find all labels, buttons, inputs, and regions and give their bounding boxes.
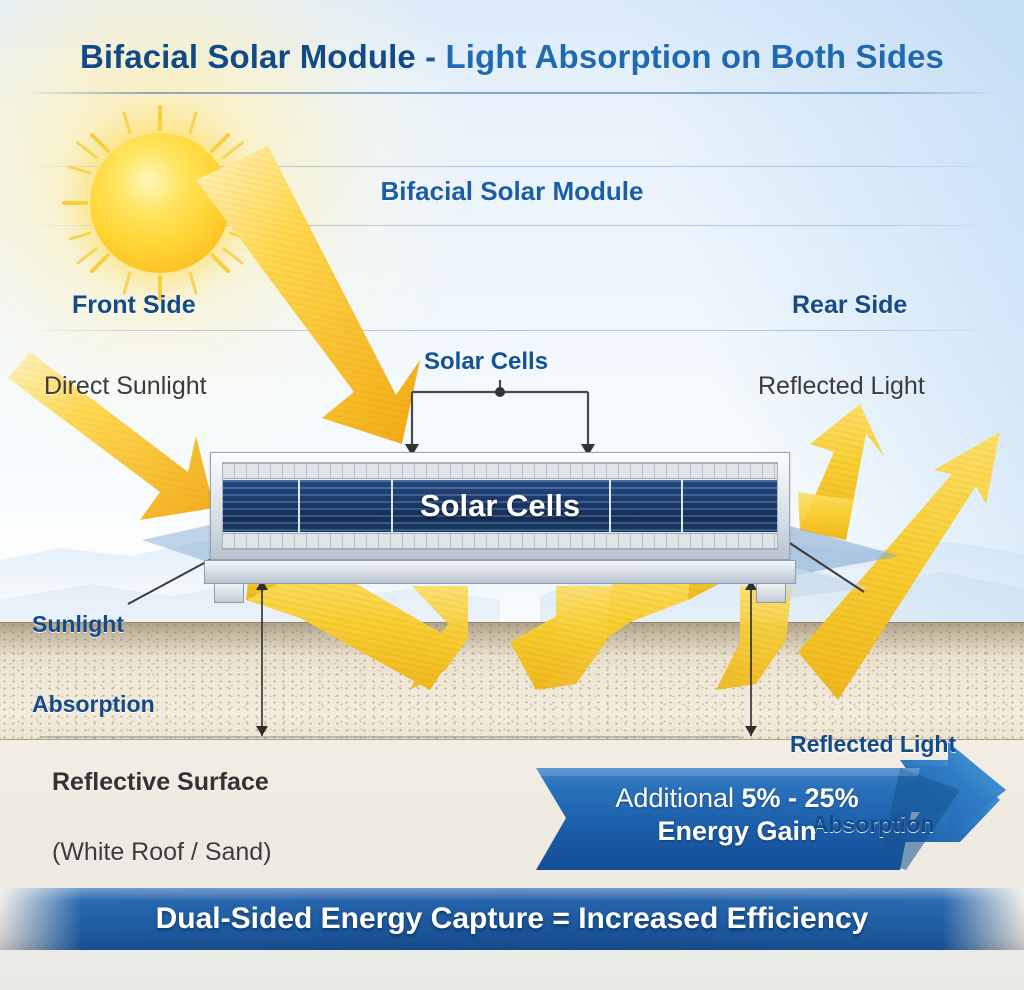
module-foot-right — [756, 583, 786, 603]
solar-module: Solar Cells — [210, 452, 790, 592]
footer-banner: Dual-Sided Energy Capture = Increased Ef… — [0, 888, 1024, 950]
side-label-divider — [22, 330, 1002, 331]
reflected-absorption-line1: Reflected Light — [790, 731, 956, 758]
reflective-surface-line1: Reflective Surface — [52, 767, 272, 798]
solar-cells-callout-label: Solar Cells — [424, 348, 548, 376]
reflective-surface-line2: (White Roof / Sand) — [52, 837, 272, 868]
sunlight-absorption-line1: Sunlight — [32, 611, 155, 638]
page-title-separator: - — [416, 38, 446, 75]
module-cells-label: Solar Cells — [223, 488, 777, 524]
energy-gain-line2: Energy Gain — [572, 815, 902, 848]
page-title-wrap: Bifacial Solar Module - Light Absorption… — [0, 38, 1024, 76]
module-mounting-rail — [204, 560, 796, 584]
direct-sunlight-label: Direct Sunlight — [44, 372, 207, 401]
sun-icon — [60, 103, 260, 303]
footer-banner-text: Dual-Sided Energy Capture = Increased Ef… — [0, 888, 1024, 950]
sunlight-absorption-line2: Absorption — [32, 691, 155, 718]
module-inner: Solar Cells — [222, 462, 778, 550]
reflective-surface-label: Reflective Surface (White Roof / Sand) — [52, 728, 272, 906]
front-side-label: Front Side — [72, 291, 196, 320]
module-foot-left — [214, 583, 244, 603]
page-title: Bifacial Solar Module - Light Absorption… — [0, 38, 1024, 76]
infographic-canvas: Bifacial Solar Module - Light Absorption… — [0, 0, 1024, 990]
busbar-bottom — [223, 533, 777, 549]
energy-gain-value: 5% - 25% — [742, 783, 859, 813]
reflected-light-label: Reflected Light — [758, 372, 925, 401]
busbar-top — [223, 463, 777, 479]
sun-disc — [90, 133, 230, 273]
energy-gain-prefix: Additional — [615, 783, 741, 813]
page-title-main: Bifacial Solar Module — [80, 38, 416, 75]
page-title-rest: Light Absorption on Both Sides — [445, 38, 944, 75]
rear-side-label: Rear Side — [792, 291, 907, 320]
energy-gain-ribbon: Additional 5% - 25% Energy Gain — [528, 762, 1020, 870]
energy-gain-text: Additional 5% - 25% Energy Gain — [572, 782, 902, 849]
title-divider — [22, 92, 1002, 94]
module-frame: Solar Cells — [210, 452, 790, 560]
solar-cell-array: Solar Cells — [223, 480, 777, 532]
